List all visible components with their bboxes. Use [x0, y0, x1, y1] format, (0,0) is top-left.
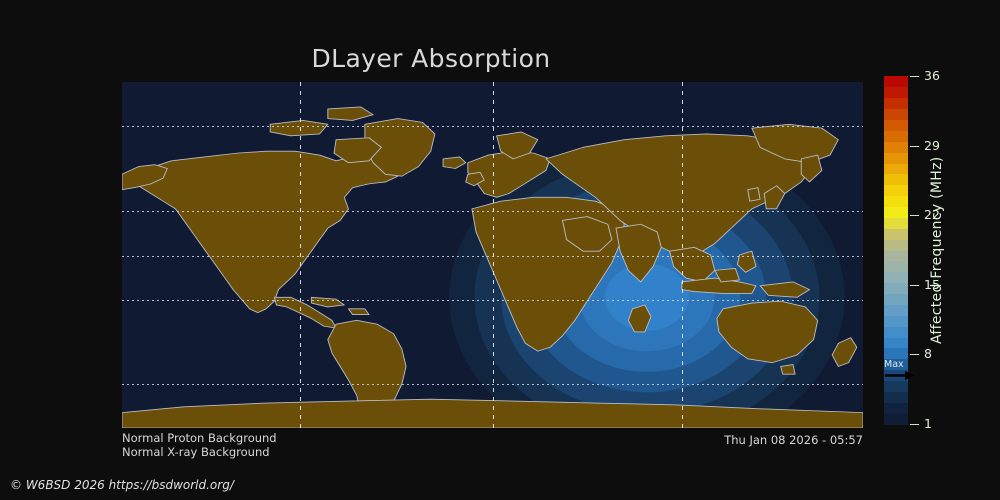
colorbar-segment [884, 261, 908, 272]
colorbar-segment [884, 174, 908, 185]
colorbar-segment [884, 315, 908, 326]
colorbar-segment [884, 130, 908, 141]
world-map[interactable] [122, 82, 863, 428]
colorbar-axis-title: Affected Frequency (MHz) [927, 76, 947, 424]
colorbar-tick [910, 215, 919, 216]
colorbar-segment [884, 326, 908, 337]
gridline-meridian-90e [682, 82, 683, 428]
colorbar-tick [910, 285, 919, 286]
colorbar-segment [884, 304, 908, 315]
colorbar-segment [884, 207, 908, 218]
colorbar-segment [884, 391, 908, 402]
colorbar-segment [884, 283, 908, 294]
gridline-meridian-0 [493, 82, 494, 428]
colorbar-segment [884, 120, 908, 131]
xray-status-label: Normal X-ray Background [122, 445, 270, 459]
page-title: DLayer Absorption [0, 44, 862, 73]
colorbar-segment [884, 294, 908, 305]
colorbar-tick [910, 146, 919, 147]
colorbar-segment [884, 141, 908, 152]
map-gridlines [122, 82, 863, 428]
colorbar-segment [884, 348, 908, 359]
gridline-meridian-90w [300, 82, 301, 428]
copyright-footer: © W6BSD 2026 https://bsdworld.org/ [10, 478, 234, 492]
colorbar-segment [884, 228, 908, 239]
colorbar-segment [884, 109, 908, 120]
colorbar-segment [884, 196, 908, 207]
colorbar-segment [884, 152, 908, 163]
colorbar-segment [884, 337, 908, 348]
max-arrow-icon [884, 370, 914, 381]
colorbar-tick [910, 424, 919, 425]
colorbar-segment [884, 185, 908, 196]
colorbar-segment [884, 98, 908, 109]
max-marker-label: Max [884, 360, 904, 370]
colorbar-max-marker: Max [884, 360, 914, 382]
colorbar-segment [884, 413, 908, 424]
dlayer-absorption-page: DLayer Absorption [0, 0, 1000, 500]
colorbar-segment [884, 239, 908, 250]
colorbar-segment [884, 87, 908, 98]
colorbar-segment [884, 76, 908, 87]
colorbar-tick [910, 76, 919, 77]
proton-status-label: Normal Proton Background [122, 431, 277, 445]
colorbar-segment [884, 250, 908, 261]
colorbar-segment [884, 402, 908, 413]
colorbar-segment [884, 163, 908, 174]
colorbar-segment [884, 217, 908, 228]
colorbar-segment [884, 272, 908, 283]
colorbar-tick [910, 354, 919, 355]
timestamp-label: Thu Jan 08 2026 - 05:57 [724, 433, 863, 447]
